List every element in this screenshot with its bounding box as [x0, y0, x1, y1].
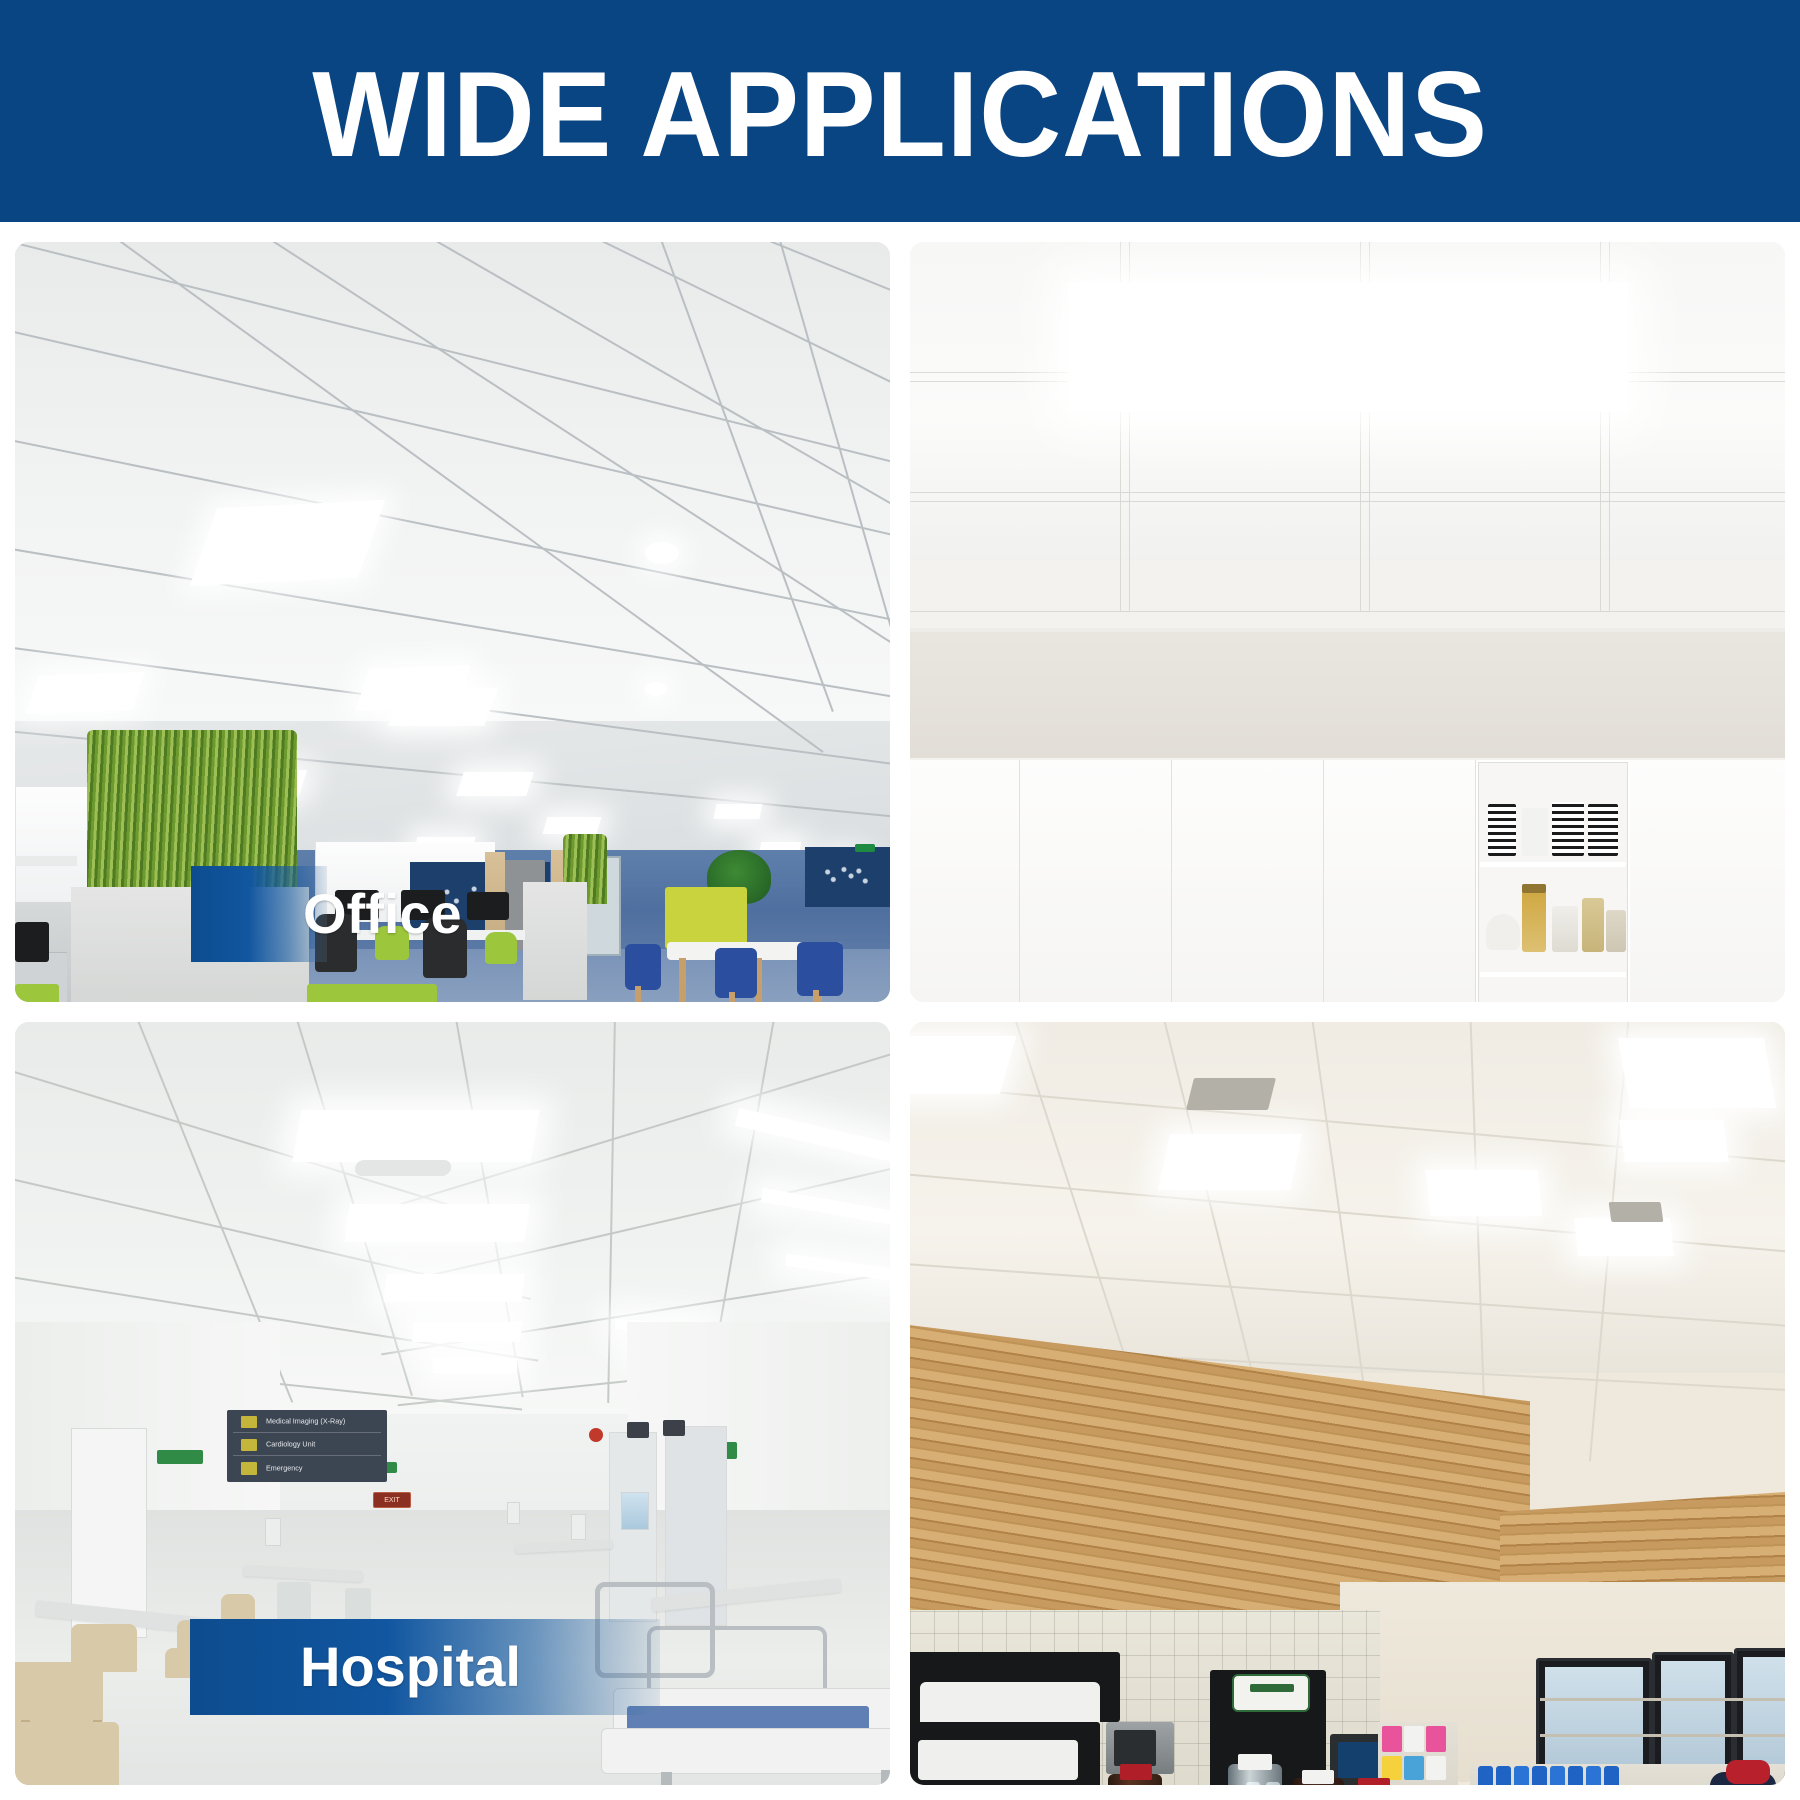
bench [15, 984, 59, 1002]
door-plaque [157, 1450, 203, 1464]
led-panel-light [1618, 1038, 1776, 1108]
kitchen-photo [910, 242, 1785, 1002]
led-panel-light [292, 1110, 539, 1162]
partition [523, 882, 587, 1000]
open-shelf [1476, 760, 1630, 1002]
ceiling-vent [1186, 1078, 1276, 1110]
led-panel-light [910, 1036, 1016, 1094]
led-panel-light [388, 688, 498, 726]
bar-stool [715, 948, 757, 998]
led-panel-light [1619, 1120, 1729, 1162]
patient-bed [601, 1728, 890, 1774]
wall-cabinet [1630, 760, 1785, 1002]
wayfinding-line: Emergency [266, 1464, 302, 1472]
monitor [15, 922, 49, 962]
led-panel-light [1574, 1218, 1674, 1256]
led-panel-light [190, 500, 386, 587]
office-chair [485, 932, 517, 964]
led-panel-light [543, 817, 602, 834]
wall-cabinet [1020, 760, 1172, 1002]
refrigerated-cooler [1734, 1648, 1785, 1778]
applications-grid: Office [15, 242, 1785, 1785]
application-gallery-page: WIDE APPLICATIONS [0, 0, 1800, 1800]
header-banner: WIDE APPLICATIONS [0, 0, 1800, 222]
downlight [645, 542, 679, 564]
page-title: WIDE APPLICATIONS [312, 47, 1488, 175]
panel-label-hospital: Hospital [190, 1619, 660, 1715]
panel-supermarket[interactable]: Supermarket [910, 1022, 1785, 1785]
panel-hospital[interactable]: Medical Imaging (X-Ray) Cardiology Unit … [15, 1022, 890, 1785]
led-panel-light [384, 1274, 525, 1302]
cart [277, 1582, 311, 1622]
cart [345, 1588, 371, 1622]
wall-cabinet [910, 760, 1020, 1002]
led-panel-light [1426, 1170, 1543, 1216]
led-panel-light [433, 1358, 517, 1373]
fire-alarm [589, 1428, 603, 1442]
refrigerated-cooler [1536, 1658, 1652, 1776]
ceiling-vent [1609, 1202, 1664, 1222]
wayfinding-sign: Medical Imaging (X-Ray) Cardiology Unit … [227, 1410, 387, 1482]
monitor [467, 892, 509, 920]
wayfinding-line: Cardiology Unit [266, 1441, 315, 1449]
wall-cabinet [1172, 760, 1324, 1002]
acoustic-panel [665, 887, 747, 949]
led-panel-light [1158, 1134, 1302, 1190]
led-panel-light [412, 1322, 521, 1342]
world-map-wall-graphic [805, 847, 890, 907]
bench [307, 984, 437, 1002]
wayfinding-line: Medical Imaging (X-Ray) [266, 1418, 345, 1426]
exit-sign: EXIT [373, 1492, 411, 1508]
wall-cabinet [1324, 760, 1476, 1002]
bar-stool [797, 942, 843, 996]
downlight [645, 682, 667, 696]
refrigerated-cooler [1652, 1652, 1734, 1776]
waiting-chair [71, 1624, 137, 1672]
exit-sign [855, 844, 875, 852]
bar-stool [625, 944, 661, 990]
led-panel-light [344, 1204, 529, 1242]
led-panel-light [456, 772, 534, 796]
panel-label-office: Office [191, 866, 327, 962]
panel-office[interactable]: Office [15, 242, 890, 1002]
waiting-chair [15, 1722, 119, 1785]
led-panel-light [1068, 282, 1628, 412]
store-sign [1232, 1674, 1310, 1712]
panel-kitchen[interactable]: Kitchen [910, 242, 1785, 1002]
supermarket-photo [910, 1022, 1785, 1785]
led-panel-light [26, 672, 145, 714]
led-panel-light [713, 804, 762, 819]
